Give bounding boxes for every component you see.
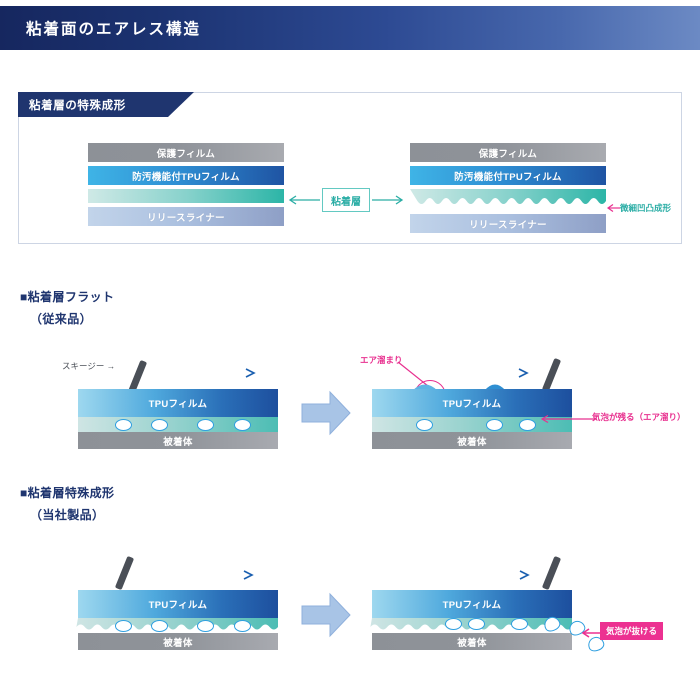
layer-tpu-film: 防汚機能付TPUフィルム	[410, 166, 606, 185]
air-bubble	[115, 620, 132, 632]
transition-arrow-icon	[300, 592, 352, 638]
substrate-label: 被着体	[457, 434, 486, 448]
air-bubble	[197, 620, 214, 632]
diagram-page: 粘着面のエアレス構造 粘着層の特殊成形 保護フィルム 防汚機能付TPUフィルム …	[0, 0, 700, 700]
tpu-film-label: TPUフィルム	[149, 396, 208, 410]
air-bubble	[234, 419, 251, 431]
substrate-label: 被着体	[163, 434, 192, 448]
substrate-layer: 被着体	[372, 432, 572, 449]
section-subheading-flat: （従来品）	[30, 310, 92, 327]
squeegee-blade-icon	[542, 556, 561, 590]
fine-texture-annotation: 微細凹凸成形	[620, 202, 671, 214]
layer-stack-conventional: 保護フィルム 防汚機能付TPUフィルム リリースライナー	[88, 143, 284, 226]
layer-stack-textured: 保護フィルム 防汚機能付TPUフィルム リリースライナー	[410, 143, 606, 233]
wavy-adhesive-shape	[410, 189, 606, 210]
cross-section-textured-after: TPUフィルム 被着体	[372, 590, 572, 650]
tpu-film-label: TPUフィルム	[149, 597, 208, 611]
air-bubble	[416, 419, 433, 431]
air-bubble	[197, 419, 214, 431]
layer-adhesive-flat	[88, 189, 284, 203]
arrow-left-icon	[286, 194, 320, 206]
substrate-layer: 被着体	[78, 633, 278, 650]
layer-release-liner: リリースライナー	[410, 214, 606, 233]
transition-arrow-icon	[300, 390, 352, 436]
air-bubble	[445, 618, 462, 630]
layer-protective-film: 保護フィルム	[88, 143, 284, 162]
air-bubble	[151, 419, 168, 431]
air-bubble	[234, 620, 251, 632]
arrow-right-icon	[372, 194, 406, 206]
cross-section-textured-before: TPUフィルム 被着体	[78, 590, 278, 650]
panel-tab-label: 粘着層の特殊成形	[29, 97, 126, 113]
textured-result-badge: 気泡が抜ける	[600, 622, 663, 640]
flow-direction-arrow-icon	[425, 368, 535, 378]
tpu-film-layer: TPUフィルム	[78, 590, 278, 618]
air-pocket-label: エア溜まり	[360, 354, 403, 366]
arrow-left-pink-icon	[606, 203, 620, 213]
cross-section-flat-before: TPUフィルム 被着体	[78, 389, 278, 449]
adhesive-layer-callout: 粘着層	[322, 188, 370, 212]
tpu-film-layer: TPUフィルム	[78, 389, 278, 417]
tpu-film-layer: TPUフィルム	[372, 590, 572, 618]
tpu-film-label: TPUフィルム	[443, 597, 502, 611]
layer-tpu-film: 防汚機能付TPUフィルム	[88, 166, 284, 185]
air-bubble	[151, 620, 168, 632]
substrate-label: 被着体	[163, 635, 192, 649]
section-subheading-textured: （当社製品）	[30, 506, 104, 523]
substrate-layer: 被着体	[78, 432, 278, 449]
substrate-layer: 被着体	[372, 633, 572, 650]
tpu-film-layer: TPUフィルム	[372, 389, 572, 417]
flat-result-label: 気泡が残る（エア溜り）	[592, 411, 686, 423]
section-heading-flat: ■粘着層フラット	[20, 288, 114, 305]
air-bubble	[468, 618, 485, 630]
page-title: 粘着面のエアレス構造	[26, 17, 201, 39]
flow-direction-arrow-icon	[162, 368, 260, 378]
layer-protective-film: 保護フィルム	[410, 143, 606, 162]
tpu-film-label: TPUフィルム	[443, 396, 502, 410]
page-header-banner: 粘着面のエアレス構造	[0, 6, 700, 50]
flow-direction-arrow-icon	[148, 570, 260, 580]
substrate-label: 被着体	[457, 635, 486, 649]
result-callout-arrow-icon	[578, 628, 602, 638]
result-callout-arrow-icon	[535, 414, 597, 424]
squeegee-blade-icon	[542, 358, 561, 392]
layer-adhesive-textured	[410, 189, 606, 210]
section-heading-textured: ■粘着層特殊成形	[20, 484, 114, 501]
flow-direction-arrow-icon	[418, 570, 536, 580]
air-bubble	[486, 419, 503, 431]
air-bubble	[519, 419, 536, 431]
air-bubble	[115, 419, 132, 431]
layer-release-liner: リリースライナー	[88, 207, 284, 226]
squeegee-blade-icon	[115, 556, 134, 590]
panel-tab: 粘着層の特殊成形	[18, 92, 168, 117]
air-bubble	[511, 618, 528, 630]
squeegee-label: スキージー →	[62, 360, 115, 372]
